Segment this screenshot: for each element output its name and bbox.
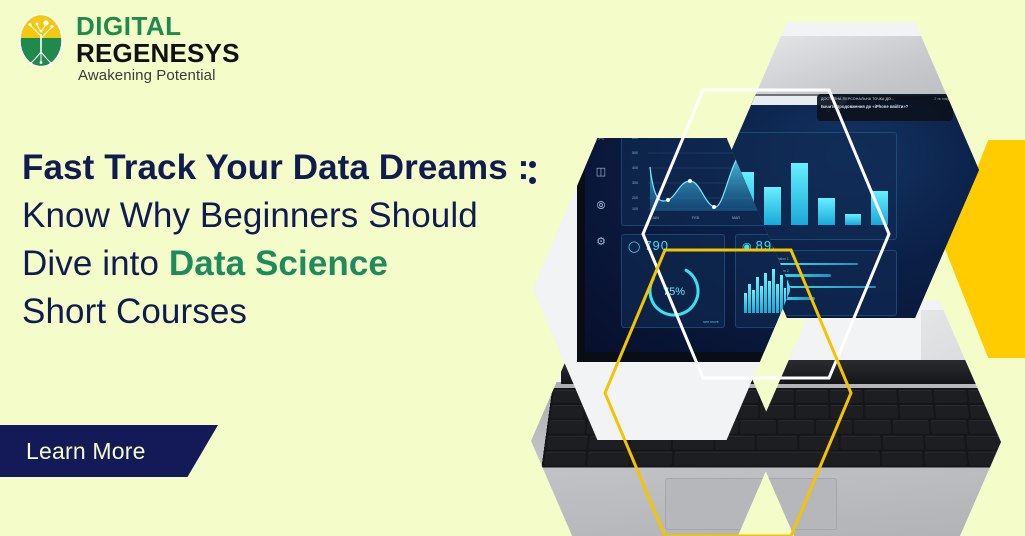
star-icon[interactable]: ☆ bbox=[596, 138, 606, 143]
decorative-dot-icon bbox=[529, 177, 536, 184]
headline-line-2: Know Why Beginners Should bbox=[22, 192, 562, 240]
notification-toast: 2 хв тому ДОСТУПНА ПЕРСОНАЛЬНА ТОЧКА ДО.… bbox=[817, 94, 953, 121]
marketing-banner: DIGITAL REGENESYS Awakening Potential Fa… bbox=[0, 0, 1025, 536]
target-icon: ◉ bbox=[742, 241, 753, 253]
svg-text:FEB: FEB bbox=[692, 216, 700, 220]
learn-more-button[interactable]: Learn More bbox=[0, 425, 218, 477]
dashboard-sidebar: ☆ ◫ ⦾ ⚙ bbox=[587, 138, 615, 346]
svg-text:JAN: JAN bbox=[652, 216, 659, 220]
circle-icon: ◯ bbox=[628, 241, 641, 253]
location-pin-icon: ⚲ bbox=[725, 95, 731, 104]
svg-text:100: 100 bbox=[632, 207, 638, 211]
notification-time: 2 хв тому bbox=[934, 97, 949, 101]
widget-090-label: ☗090 bbox=[723, 133, 896, 151]
svg-text:500: 500 bbox=[632, 151, 638, 155]
widget-790-gauge: ◯790 75% see more bbox=[621, 234, 725, 328]
regenesys-tree-egg-logo-icon bbox=[16, 12, 66, 69]
svg-text:400: 400 bbox=[632, 166, 638, 170]
see-more-link[interactable]: see more bbox=[703, 320, 719, 324]
hero-artwork: ⚲ 2 хв тому ДОСТУПНА ПЕРСОНАЛЬНА ТОЧКА Д… bbox=[525, 0, 1025, 536]
svg-text:300: 300 bbox=[632, 181, 638, 185]
decorative-dot-icon bbox=[529, 161, 536, 168]
brand-name-line2: REGENESYS bbox=[76, 40, 240, 67]
headline-line-1: Fast Track Your Data Dreams : bbox=[22, 144, 562, 192]
download-icon[interactable]: ⦾ bbox=[597, 200, 606, 213]
headline-line-4: Short Courses bbox=[22, 288, 562, 336]
gear-icon[interactable]: ⚙ bbox=[596, 235, 606, 248]
brand-name-line1: DIGITAL bbox=[76, 13, 240, 40]
svg-text:75%: 75% bbox=[663, 286, 685, 298]
notification-body: Бачите продовження до «iPhone ввійти»? bbox=[821, 104, 949, 109]
svg-text:200: 200 bbox=[632, 196, 638, 200]
svg-text:600: 600 bbox=[632, 138, 638, 140]
headline-line-3: Dive into Data Science bbox=[22, 240, 562, 288]
widget-790-label: ◯790 bbox=[622, 235, 724, 253]
list-icon[interactable]: ◫ bbox=[596, 165, 606, 178]
brand-wordmark: DIGITAL REGENESYS Awakening Potential bbox=[76, 12, 240, 86]
brand-logo[interactable]: DIGITAL REGENESYS Awakening Potential bbox=[16, 12, 240, 86]
page-title: Fast Track Your Data Dreams : Know Why B… bbox=[22, 144, 562, 336]
headline-line-3-prefix: Dive into bbox=[22, 244, 169, 283]
svg-text:MAR: MAR bbox=[732, 216, 740, 220]
headline-accent-data-science: Data Science bbox=[169, 244, 388, 283]
hex-bottom-right-keyboard bbox=[753, 300, 1001, 536]
notification-title: ДОСТУПНА ПЕРСОНАЛЬНА ТОЧКА ДО... bbox=[821, 97, 949, 101]
brand-tagline: Awakening Potential bbox=[76, 66, 240, 86]
